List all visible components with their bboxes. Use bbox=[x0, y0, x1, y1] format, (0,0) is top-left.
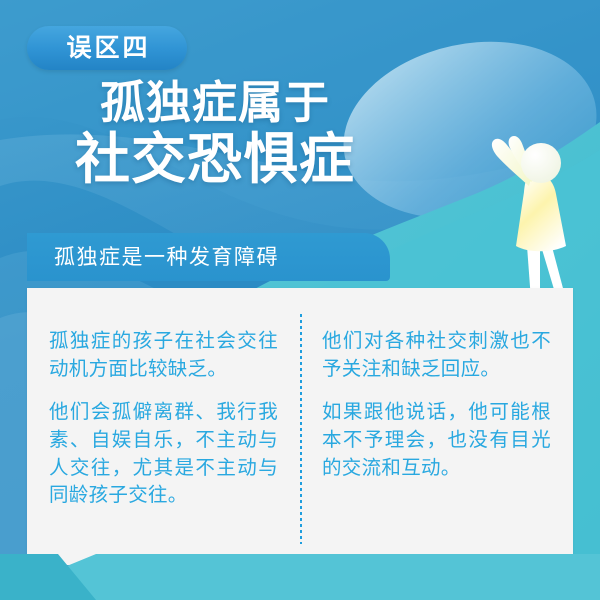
subtitle-bar: 孤独症是一种发育障碍 bbox=[27, 233, 390, 281]
left-paragraph-2: 他们会孤僻离群、我行我素、自娱自乐，不主动与人交往，尤其是不主动与同龄孩子交往。 bbox=[49, 399, 278, 510]
column-divider bbox=[300, 314, 302, 544]
content-card: 孤独症的孩子在社会交往动机方面比较缺乏。 他们会孤僻离群、我行我素、自娱自乐，不… bbox=[27, 288, 573, 565]
left-column: 孤独症的孩子在社会交往动机方面比较缺乏。 他们会孤僻离群、我行我素、自娱自乐，不… bbox=[27, 288, 300, 565]
title-line-1: 孤独症属于 bbox=[0, 80, 430, 127]
left-paragraph-1: 孤独症的孩子在社会交往动机方面比较缺乏。 bbox=[49, 328, 278, 383]
badge-label: 误区四 bbox=[63, 36, 150, 61]
right-paragraph-1: 他们对各种社交刺激也不予关注和缺乏回应。 bbox=[322, 328, 551, 383]
subtitle-text: 孤独症是一种发育障碍 bbox=[54, 247, 279, 268]
poster-canvas: 误区四 孤独症属于 社交恐惧症 孤独症是一种发育障碍 孤独症的孩子在社会交往动机… bbox=[0, 0, 600, 600]
right-paragraph-2: 如果跟他说话，他可能根本不予理会，也没有目光的交流和互动。 bbox=[322, 399, 551, 482]
misconception-badge: 误区四 bbox=[27, 26, 187, 70]
right-column: 他们对各种社交刺激也不予关注和缺乏回应。 如果跟他说话，他可能根本不予理会，也没… bbox=[300, 288, 573, 565]
page-title: 孤独症属于 社交恐惧症 bbox=[0, 80, 430, 188]
title-line-2: 社交恐惧症 bbox=[0, 131, 430, 188]
